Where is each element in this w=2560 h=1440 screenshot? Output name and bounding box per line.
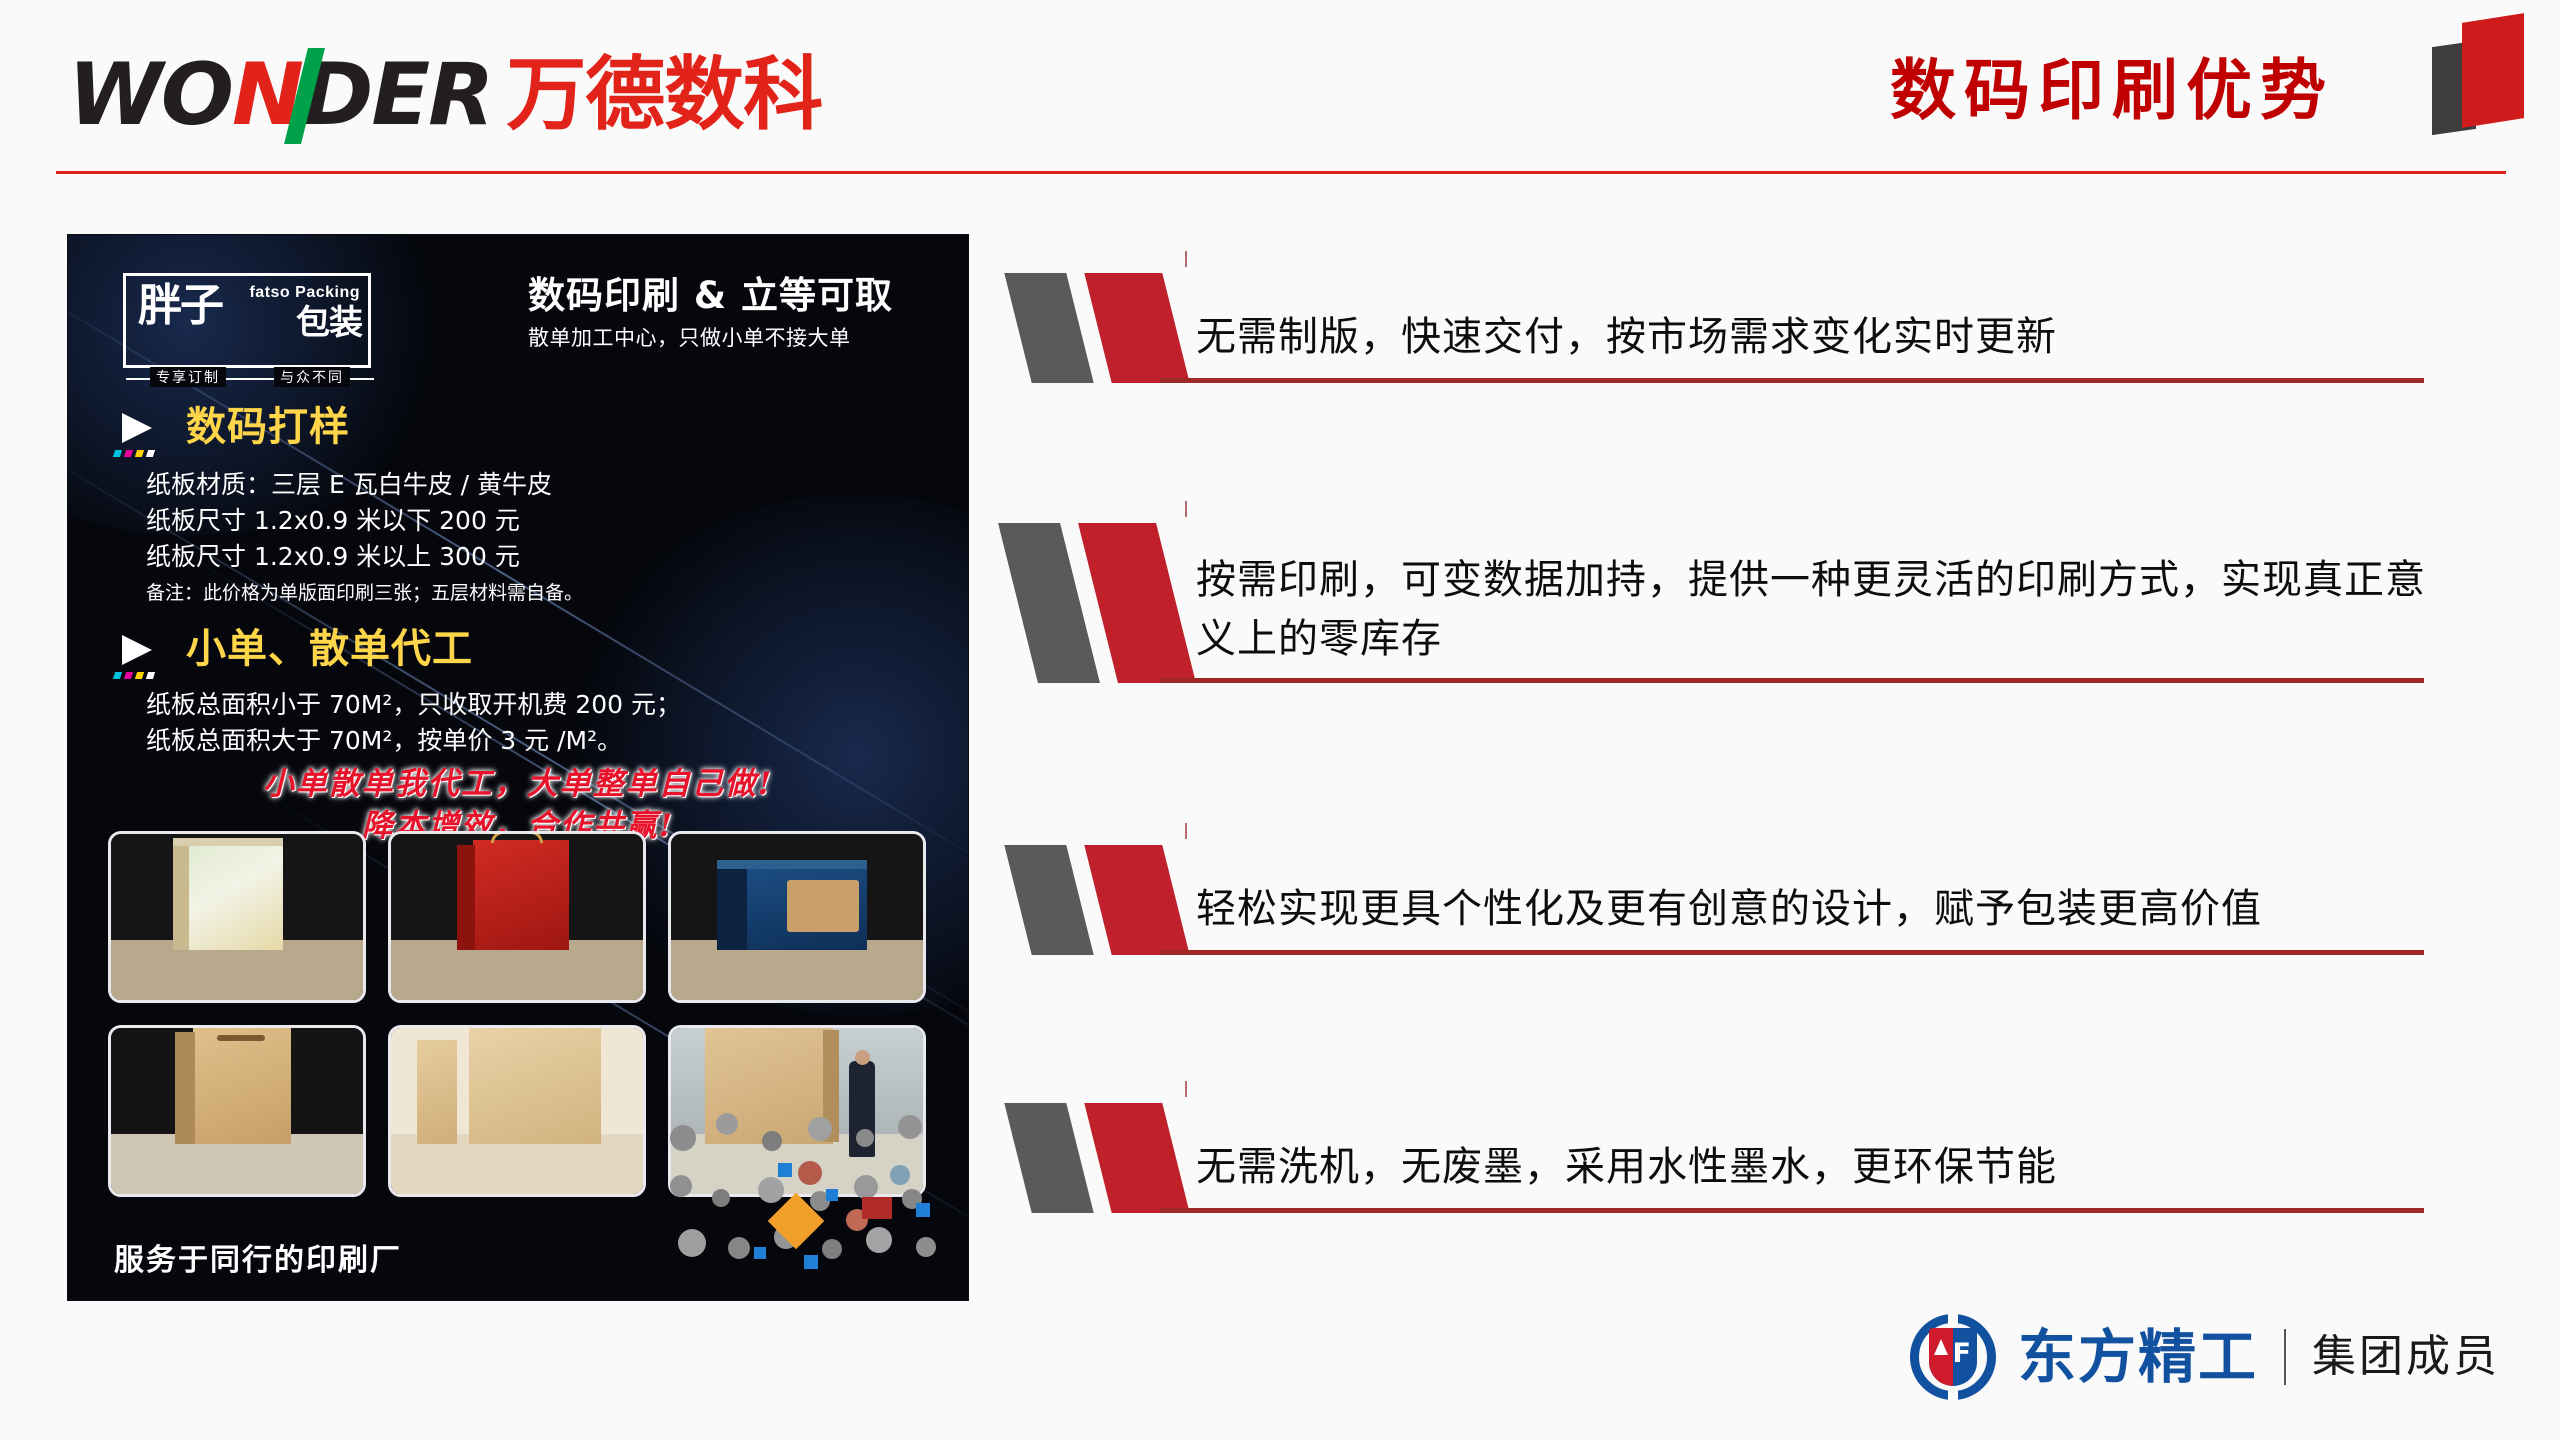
halftone-decoration-icon bbox=[658, 1105, 968, 1300]
wonder-logo: WONDER 万德数科 bbox=[68, 52, 822, 138]
box-front bbox=[417, 1040, 457, 1144]
dongfang-group-logo: F 东方精工 集团成员 bbox=[1910, 1314, 2500, 1400]
corner-decoration-icon bbox=[2428, 0, 2533, 135]
bullet-tick-2 bbox=[1185, 501, 1187, 517]
poster-section-2-body: 纸板总面积小于 70M²，只收取开机费 200 元； 纸板总面积大于 70M²，… bbox=[146, 687, 681, 759]
box-front bbox=[193, 1026, 291, 1144]
box-side bbox=[457, 845, 475, 950]
bullet-marker-2 bbox=[1010, 523, 1200, 683]
chevron-arrow-icon-2 bbox=[114, 635, 176, 681]
dongfang-shield: F bbox=[1929, 1328, 1977, 1386]
bullet-bar-gray bbox=[1004, 845, 1093, 955]
section-1-line-3: 纸板尺寸 1.2x0.9 米以上 300 元 bbox=[146, 539, 583, 575]
advantage-item-2[interactable]: 按需印刷，可变数据加持，提供一种更灵活的印刷方式，实现真正意义上的零库存 bbox=[1010, 523, 2430, 683]
bullet-tick-4 bbox=[1185, 1081, 1187, 1097]
advantage-text-4: 无需洗机，无废墨，采用水性墨水，更环保节能 bbox=[1196, 1138, 2426, 1197]
chevron-shape-2 bbox=[122, 635, 152, 665]
box-front bbox=[187, 838, 283, 950]
bullet-bar-gray bbox=[1004, 273, 1093, 383]
cmyk-dot-c bbox=[113, 450, 122, 457]
fatso-tag-right: 与众不同 bbox=[274, 367, 350, 387]
cmyk-dot-m-2 bbox=[124, 672, 133, 679]
poster-section-1-body: 纸板材质：三层 E 瓦白牛皮 / 黄牛皮 纸板尺寸 1.2x0.9 米以下 20… bbox=[146, 467, 583, 608]
box-side bbox=[175, 1032, 195, 1144]
chevron-arrow-icon bbox=[114, 413, 176, 459]
box-shape-small bbox=[417, 1040, 457, 1144]
poster-photo-row-top bbox=[108, 831, 928, 1003]
bullet-underline-1 bbox=[1160, 378, 2424, 383]
wonder-logo-latin: WONDER bbox=[68, 52, 492, 138]
advantage-item-4[interactable]: 无需洗机，无废墨，采用水性墨水，更环保节能 bbox=[1010, 1103, 2430, 1213]
fatso-logo-taglines: 专享订制 与众不同 bbox=[126, 367, 374, 387]
bullet-bar-red bbox=[1084, 1103, 1189, 1213]
cmyk-dot-m bbox=[124, 450, 133, 457]
box-shape bbox=[173, 838, 283, 950]
page-header: WONDER 万德数科 数码印刷优势 bbox=[0, 0, 2560, 175]
header-divider bbox=[56, 171, 2506, 174]
box-shape bbox=[457, 840, 569, 950]
box-top bbox=[173, 838, 283, 846]
photo-beef-dumpling-box bbox=[668, 831, 926, 1003]
photo-kraft-classic-box bbox=[388, 1025, 646, 1197]
poster-subheadline: 散单加工中心，只做小单不接大单 bbox=[528, 328, 851, 349]
section-1-line-2: 纸板尺寸 1.2x0.9 米以下 200 元 bbox=[146, 503, 583, 539]
bullet-tick-3 bbox=[1185, 823, 1187, 839]
bullet-bar-red bbox=[1084, 845, 1189, 955]
bullet-underline-3 bbox=[1160, 950, 2424, 955]
box-shape bbox=[717, 860, 867, 950]
fatso-packing-logo: 胖子 fatso Packing 包装 专享订制 与众不同 bbox=[123, 273, 371, 368]
cmyk-dot-y bbox=[135, 450, 144, 457]
corner-red-shape bbox=[2462, 13, 2524, 128]
wonder-logo-der: DER bbox=[302, 45, 492, 145]
cmyk-dot-k-2 bbox=[146, 672, 155, 679]
section-2-line-2: 纸板总面积大于 70M²，按单价 3 元 /M²。 bbox=[146, 723, 681, 759]
box-side bbox=[173, 844, 189, 950]
bullet-bar-red bbox=[1078, 523, 1196, 683]
bullet-bar-red bbox=[1084, 273, 1189, 383]
poster-headline: 数码印刷 & 立等可取 bbox=[528, 277, 893, 314]
dongfang-member-label: 集团成员 bbox=[2312, 1335, 2500, 1379]
box-side bbox=[717, 867, 747, 950]
footer-divider bbox=[2284, 1329, 2286, 1385]
advantage-item-3[interactable]: 轻松实现更具个性化及更有创意的设计，赋予包装更高价值 bbox=[1010, 845, 2430, 955]
fatso-logo-cn: 胖子 bbox=[138, 284, 222, 328]
box-shape bbox=[175, 1026, 291, 1144]
advantage-item-1[interactable]: 无需制版，快速交付，按市场需求变化实时更新 bbox=[1010, 273, 2430, 383]
advantage-text-3: 轻松实现更具个性化及更有创意的设计，赋予包装更高价值 bbox=[1196, 880, 2426, 939]
dongfang-notch-bottom bbox=[1948, 1384, 1958, 1402]
fatso-logo-pack: 包装 bbox=[296, 306, 362, 340]
page-title: 数码印刷优势 bbox=[1890, 58, 2334, 124]
photo-honey-gift-box bbox=[108, 831, 366, 1003]
bullet-tick-1 bbox=[1185, 251, 1187, 267]
dongfang-mark-icon: F bbox=[1910, 1314, 1996, 1400]
cmyk-dot-y-2 bbox=[135, 672, 144, 679]
advantage-text-2: 按需印刷，可变数据加持，提供一种更灵活的印刷方式，实现真正意义上的零库存 bbox=[1196, 551, 2426, 669]
section-title-digital-proofing: 数码打样 bbox=[186, 407, 350, 447]
wonder-logo-chinese: 万德数科 bbox=[506, 55, 822, 135]
bullet-marker-3 bbox=[1010, 845, 1200, 955]
section-1-line-1: 纸板材质：三层 E 瓦白牛皮 / 黄牛皮 bbox=[146, 467, 583, 503]
advantage-text-1: 无需制版，快速交付，按市场需求变化实时更新 bbox=[1196, 308, 2426, 367]
wonder-logo-wo: WO bbox=[68, 45, 232, 145]
box-handle bbox=[217, 1035, 265, 1041]
promo-poster-image: 胖子 fatso Packing 包装 专享订制 与众不同 数码印刷 & 立等可… bbox=[68, 235, 968, 1300]
cmyk-dot-k bbox=[146, 450, 155, 457]
box-handle bbox=[491, 831, 543, 843]
box-top bbox=[717, 860, 867, 869]
bullet-marker-1 bbox=[1010, 273, 1200, 383]
dongfang-shield-triangle bbox=[1934, 1339, 1948, 1355]
bullet-underline-4 bbox=[1160, 1208, 2424, 1213]
poster-slogan-line-1: 小单散单我代工，大单整单自己做! bbox=[68, 763, 968, 806]
cmyk-dot-c-2 bbox=[113, 672, 122, 679]
box-front bbox=[473, 840, 569, 950]
bullet-underline-2 bbox=[1160, 678, 2424, 683]
bullet-bar-gray bbox=[1004, 1103, 1093, 1213]
bullet-marker-4 bbox=[1010, 1103, 1200, 1213]
photo-red-gift-box bbox=[388, 831, 646, 1003]
box-art bbox=[787, 880, 859, 932]
chevron-shape bbox=[122, 413, 152, 443]
fatso-logo-en: fatso Packing bbox=[249, 284, 360, 302]
section-2-line-1: 纸板总面积小于 70M²，只收取开机费 200 元； bbox=[146, 687, 681, 723]
section-1-note: 备注：此价格为单版面印刷三张；五层材料需自备。 bbox=[146, 579, 583, 608]
advantages-list: 无需制版，快速交付，按市场需求变化实时更新 按需印刷，可变数据加持，提供一种更灵… bbox=[1010, 235, 2490, 1305]
dongfang-company-name: 东方精工 bbox=[2018, 1328, 2258, 1386]
dongfang-shield-letter: F bbox=[1953, 1340, 1971, 1367]
poster-footer-text: 服务于同行的印刷厂 bbox=[114, 1246, 402, 1276]
fatso-tag-left: 专享订制 bbox=[150, 367, 226, 387]
box-shape-large bbox=[469, 1028, 601, 1144]
section-title-small-orders: 小单、散单代工 bbox=[186, 629, 473, 669]
photo-kraft-handle-box bbox=[108, 1025, 366, 1197]
box-front bbox=[469, 1028, 601, 1144]
